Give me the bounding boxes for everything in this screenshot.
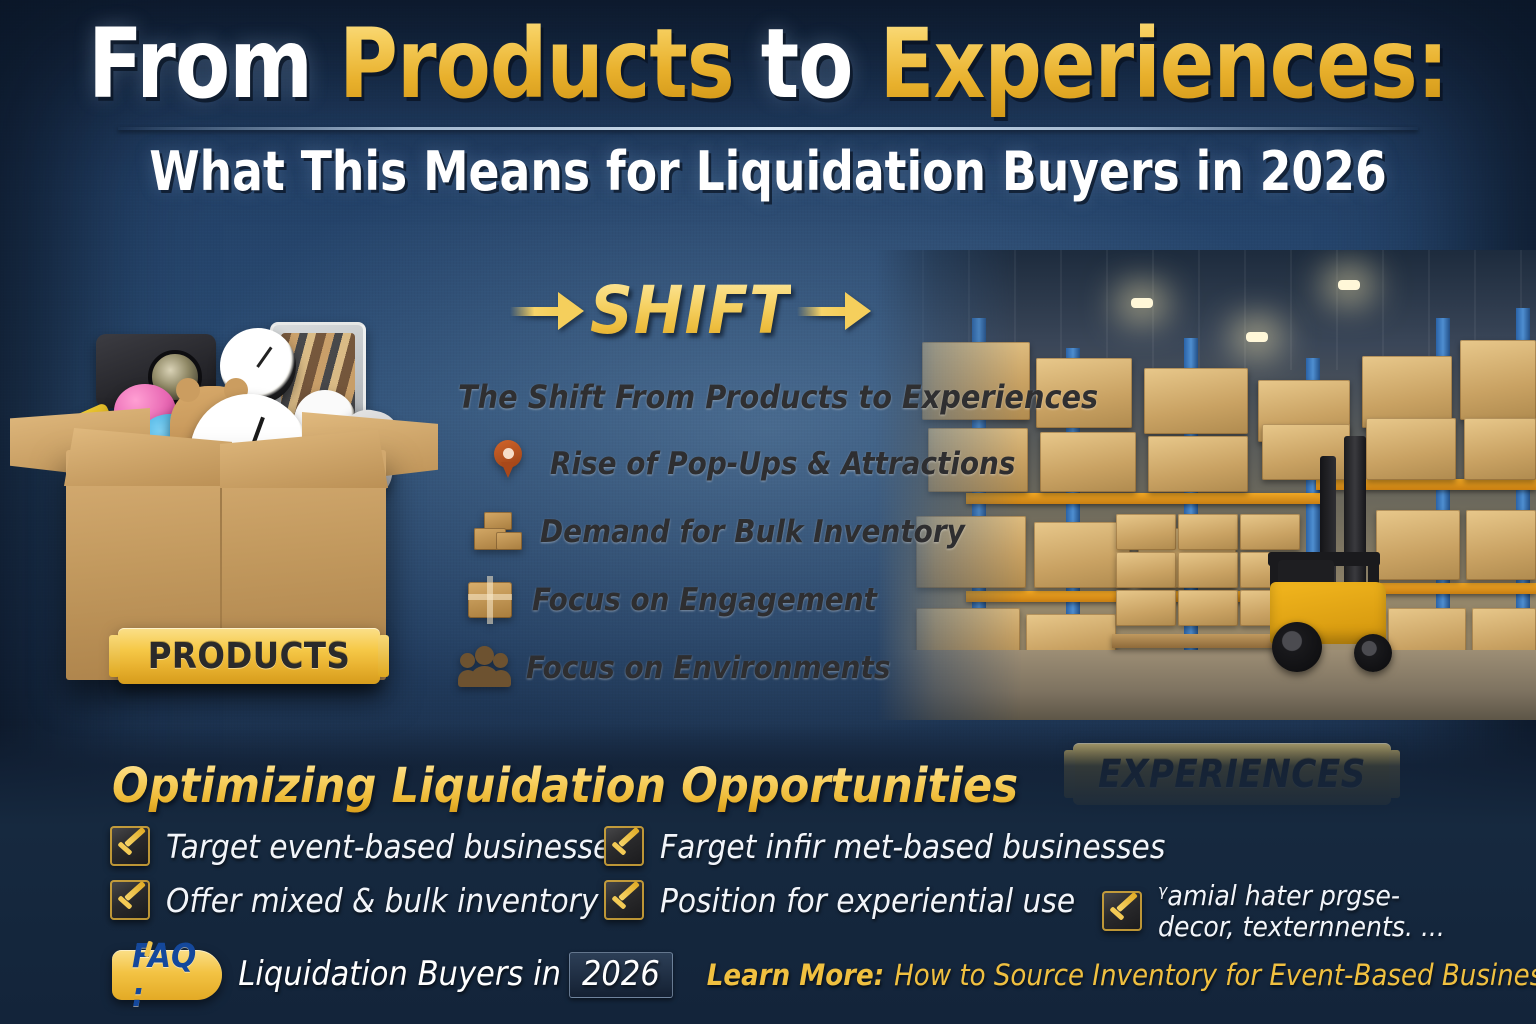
gold-check-icon [604,880,644,920]
checklist-item: Target event-based businesses [110,826,604,866]
ceiling-lamp-icon [1246,332,1268,342]
optimizing-section-title: Optimizing Liquidation Opportunities [112,758,1018,814]
list-item: Demand for Bulk Inventory [458,506,1028,558]
faq-badge-label: FAQ : [132,936,196,1014]
faq-question: Liquidation Buyers in2026 [238,952,673,998]
pallet-load [1466,510,1536,580]
pallet-load [1460,340,1536,420]
checklist-item: Farget infir met-based businesses [604,826,1102,866]
products-badge: PRODUCTS [118,628,380,684]
header: From Products to Experiences: What This … [0,14,1536,203]
checklist-item: Offer mixed & bulk inventory [110,880,604,920]
checklist-item: ᵞamial hater prgse-decor, texternnents. … [1102,880,1530,943]
list-item: Focus on Environments [458,642,1028,694]
people-group-icon [458,642,510,694]
gold-check-icon [110,826,150,866]
faq-year-chip: 2026 [569,952,673,998]
list-item-label: Focus on Environments [526,650,890,686]
checklist: Target event-based businesses Farget inf… [110,826,1530,957]
faq-row: FAQ : Liquidation Buyers in2026 Learn Mo… [112,950,1536,1000]
checklist-row: Offer mixed & bulk inventory Position fo… [110,880,1530,943]
stacked-boxes-icon [472,506,524,558]
infographic-poster: From Products to Experiences: What This … [0,0,1536,1024]
faq-badge[interactable]: FAQ : [112,950,222,1000]
list-item-label: Rise of Pop-Ups & Attractions [550,446,1016,482]
learn-more-link[interactable]: Learn More: How to Source Inventory for … [707,958,1536,992]
title-word-from: From [88,8,339,120]
page-subtitle: What This Means for Liquidation Buyers i… [46,140,1490,203]
pallet-load [1040,432,1136,492]
checklist-label: Farget infir met-based businesses [660,827,1165,866]
shift-label: SHIFT [590,272,791,349]
ceiling-lamp-icon [1338,280,1360,290]
ceiling-lamp-icon [1131,298,1153,308]
learn-more-text: How to Source Inventory for Event-Based … [894,958,1536,992]
header-divider [118,127,1418,130]
pallet-load [1144,368,1248,434]
gold-check-icon [110,880,150,920]
wrapped-package-icon [464,574,516,626]
checklist-label: Position for experiential use [660,881,1075,920]
shift-banner: SHIFT [510,272,871,349]
title-word-experiences: Experiences: [880,8,1448,120]
checklist-label: Target event-based businesses [166,827,627,866]
list-item-label: Focus on Engagement [532,582,877,618]
shift-list: The Shift From Products to Experiences R… [458,378,1028,710]
gold-check-icon [1102,891,1142,931]
checklist-row: Target event-based businesses Farget inf… [110,826,1530,866]
faq-question-text: Liquidation Buyers in [238,954,561,994]
learn-more-label: Learn More: [707,958,884,992]
checklist-label: Offer mixed & bulk inventory [166,881,598,920]
list-item-label: Demand for Bulk Inventory [540,514,965,550]
shift-list-title: The Shift From Products to Experiences [458,378,1028,416]
checklist-item: Position for experiential use [604,880,1102,920]
pallet-load [1464,418,1536,480]
map-pin-icon [482,438,534,490]
title-word-to: to [734,8,880,120]
title-word-products: Products [339,8,734,120]
arrow-right-icon [510,302,584,320]
checklist-label: ᵞamial hater prgse-decor, texternnents. … [1158,880,1458,943]
page-title: From Products to Experiences: [54,14,1482,115]
list-item: Focus on Engagement [458,574,1028,626]
products-badge-label: PRODUCTS [148,636,351,677]
arrow-right-icon [797,302,871,320]
list-item: Rise of Pop-Ups & Attractions [458,438,1028,490]
forklift-icon [1216,428,1416,678]
gold-check-icon [604,826,644,866]
